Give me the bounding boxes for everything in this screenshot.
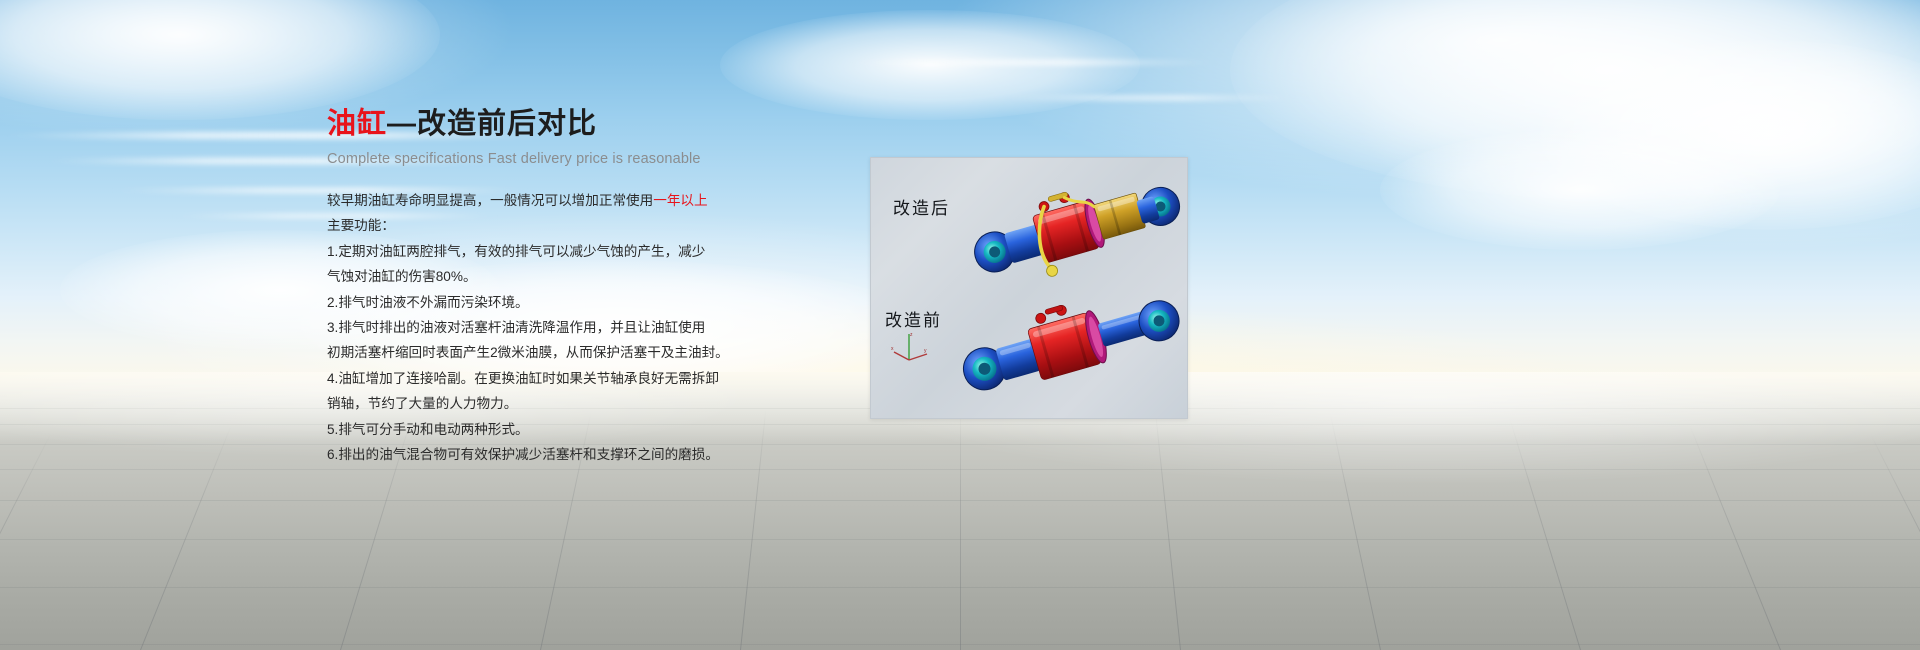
cloud-shape — [0, 0, 440, 120]
body-line-item5: 5.排气可分手动和电动两种形式。 — [327, 417, 857, 442]
ground-line — [140, 425, 232, 650]
body-line-item1-b: 气蚀对油缸的伤害80%。 — [327, 264, 857, 289]
ground-line — [1509, 418, 1581, 650]
ground-line — [0, 434, 51, 650]
cloud-shape — [1230, 0, 1920, 200]
body-line-intro-text: 较早期油缸寿命明显提高，一般情况可以增加正常使用 — [327, 193, 653, 208]
label-before-modification: 改造前 — [885, 306, 942, 331]
cloud-wisp — [1000, 96, 1300, 100]
cylinder-after-diagram — [969, 168, 1187, 286]
body-line-item4-b: 销轴，节约了大量的人力物力。 — [327, 391, 857, 416]
page-subtitle: Complete specifications Fast delivery pr… — [327, 149, 857, 169]
cloud-shape — [1380, 130, 1780, 250]
ground-line — [1330, 413, 1381, 650]
body-line-item1-a: 1.定期对油缸两腔排气，有效的排气可以减少气蚀的产生，减少 — [327, 239, 857, 264]
product-comparison-panel: 改造后 改造前 — [870, 157, 1188, 419]
title-rest: —改造前后对比 — [387, 108, 597, 140]
svg-text:x: x — [891, 346, 894, 352]
body-line-intro: 较早期油缸寿命明显提高，一般情况可以增加正常使用一年以上 — [327, 188, 857, 213]
cylinder-before-diagram — [957, 280, 1185, 408]
body-line-features-heading: 主要功能： — [327, 213, 857, 238]
hero-banner: 油缸—改造前后对比 Complete specifications Fast d… — [0, 0, 1920, 650]
cloud-wisp — [840, 60, 1220, 65]
banner-text-column: 油缸—改造前后对比 Complete specifications Fast d… — [327, 105, 857, 467]
banner-body-text: 较早期油缸寿命明显提高，一般情况可以增加正常使用一年以上 主要功能： 1.定期对… — [327, 188, 857, 467]
body-line-item4-a: 4.油缸增加了连接哈副。在更换油缸时如果关节轴承良好无需拆卸 — [327, 366, 857, 391]
ground-line — [1689, 425, 1781, 650]
body-line-item2: 2.排气时油液不外漏而污染环境。 — [327, 290, 857, 315]
svg-text:y: y — [924, 348, 927, 354]
label-after-modification: 改造后 — [893, 194, 950, 219]
ground-line — [1870, 434, 1920, 650]
title-accent: 油缸 — [327, 108, 387, 140]
body-line-intro-highlight: 一年以上 — [653, 193, 707, 208]
ground-line — [1155, 409, 1181, 650]
page-title: 油缸—改造前后对比 — [327, 105, 857, 143]
body-line-item3-a: 3.排气时排出的油液对活塞杆油清洗降温作用，并且让油缸使用 — [327, 315, 857, 340]
axis-gizmo-icon: z x y — [891, 330, 931, 366]
ground-line — [960, 408, 961, 650]
body-line-item6: 6.排出的油气混合物可有效保护减少活塞杆和支撑环之间的磨损。 — [327, 442, 857, 467]
cloud-shape — [1540, 40, 1920, 230]
svg-text:z: z — [910, 332, 913, 338]
cloud-shape — [720, 10, 1140, 120]
body-line-item3-b: 初期活塞杆缩回时表面产生2微米油膜，从而保护活塞干及主油封。 — [327, 340, 857, 365]
